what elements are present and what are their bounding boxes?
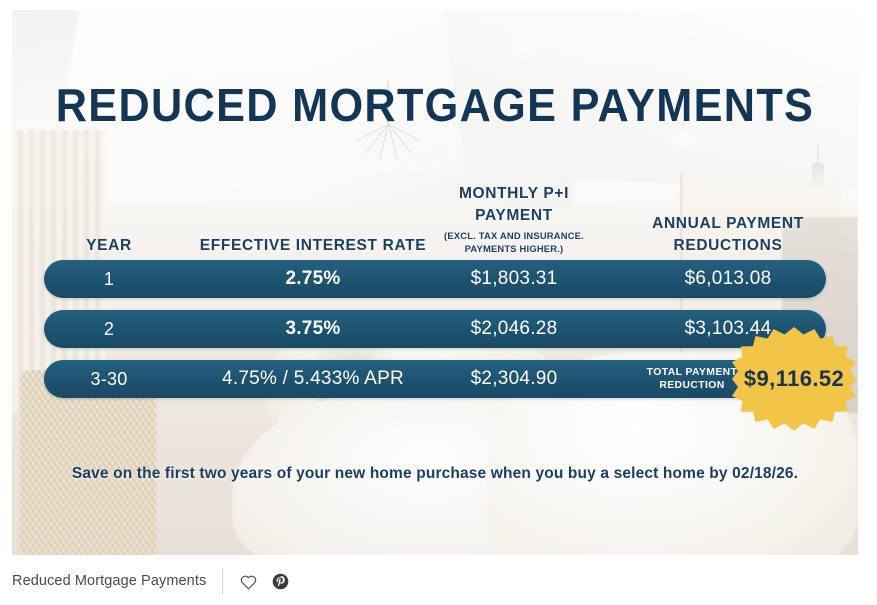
payment-table: 1 2.75% $1,803.31 $6,013.08 2 3.75% $2,0…	[44, 260, 826, 410]
table-headers: YEAR EFFECTIVE INTEREST RATE MONTHLY P+I…	[44, 170, 826, 258]
caption-bar: Reduced Mortgage Payments	[12, 566, 858, 596]
header-annual-reductions-line1: ANNUAL PAYMENT	[652, 215, 804, 232]
cell-payment: $2,046.28	[430, 310, 598, 348]
total-label-line2: REDUCTION	[659, 379, 724, 392]
header-annual-reductions-line2: REDUCTIONS	[674, 237, 783, 254]
header-year: YEAR	[56, 235, 162, 258]
cell-payment: $1,803.31	[430, 260, 598, 298]
header-annual-reductions: ANNUAL PAYMENT REDUCTIONS	[614, 213, 842, 258]
table-row: 1 2.75% $1,803.31 $6,013.08	[44, 260, 826, 298]
cell-rate: 3.75%	[164, 310, 462, 348]
header-monthly-payment-line2: PAYMENT	[475, 207, 553, 224]
cell-year: 1	[56, 260, 162, 298]
header-monthly-payment-note-line1: (EXCL. TAX AND INSURANCE.	[430, 230, 598, 243]
promo-title: REDUCED MORTGAGE PAYMENTS	[37, 78, 832, 132]
table-row: 2 3.75% $2,046.28 $3,103.44	[44, 310, 826, 348]
cell-year: 3-30	[56, 360, 162, 398]
header-monthly-payment: MONTHLY P+I PAYMENT (EXCL. TAX AND INSUR…	[430, 183, 598, 256]
total-payment-reduction-value: $9,116.52	[744, 366, 844, 392]
header-monthly-payment-line1: MONTHLY P+I	[459, 185, 569, 202]
table-row: 3-30 4.75% / 5.433% APR $2,304.90 TOTAL …	[44, 360, 826, 398]
cell-annual: $6,013.08	[614, 260, 842, 298]
promo-footnote: Save on the first two years of your new …	[12, 465, 858, 483]
heart-icon[interactable]	[237, 570, 259, 592]
promo-image-card[interactable]: REDUCED MORTGAGE PAYMENTS YEAR EFFECTIVE…	[12, 10, 858, 555]
cell-rate: 2.75%	[164, 260, 462, 298]
caption-title: Reduced Mortgage Payments	[12, 573, 206, 589]
cell-payment: $2,304.90	[430, 360, 598, 398]
pinterest-icon[interactable]	[269, 570, 291, 592]
total-label-line1: TOTAL PAYMENT	[647, 366, 738, 379]
header-monthly-payment-note-line2: PAYMENTS HIGHER.)	[430, 243, 598, 256]
page-root: REDUCED MORTGAGE PAYMENTS YEAR EFFECTIVE…	[0, 0, 877, 605]
promo-content: REDUCED MORTGAGE PAYMENTS YEAR EFFECTIVE…	[12, 10, 858, 555]
caption-divider	[222, 568, 223, 594]
header-effective-interest-rate: EFFECTIVE INTEREST RATE	[164, 235, 462, 258]
cell-year: 2	[56, 310, 162, 348]
cell-rate: 4.75% / 5.433% APR	[164, 360, 462, 398]
